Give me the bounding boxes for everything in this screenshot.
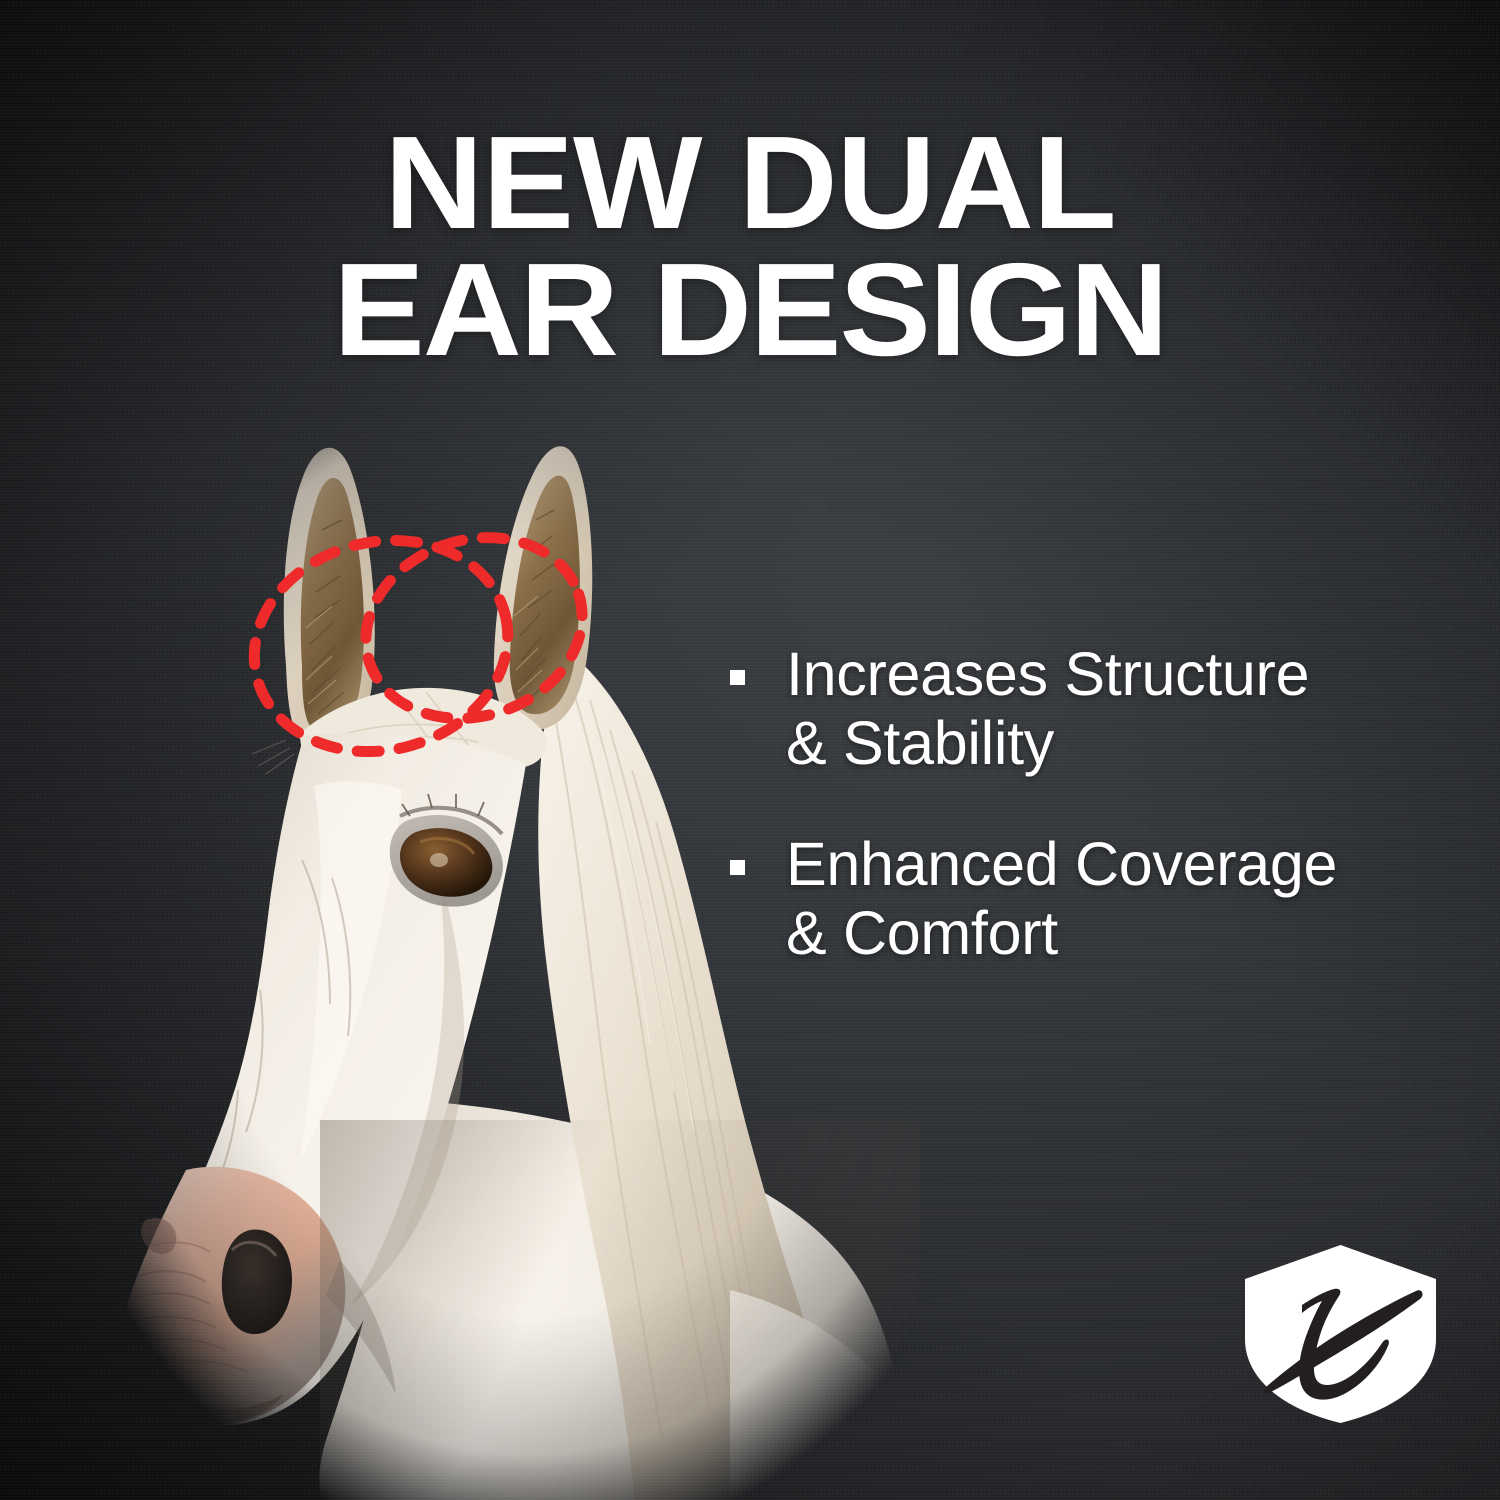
list-item-label: Enhanced Coverage & Comfort [786,830,1428,968]
square-bullet-icon [730,670,745,685]
feature-list: Increases Structure & Stability Enhanced… [728,640,1428,968]
list-item-label: Increases Structure & Stability [786,640,1428,778]
list-item-line-1: Increases Structure [786,640,1428,709]
list-item: Enhanced Coverage & Comfort [728,830,1428,968]
headline-line-1: NEW DUAL [0,120,1500,247]
brand-logo [1238,1243,1443,1425]
list-item-line-2: & Comfort [786,899,1428,968]
promo-image: NEW DUAL EAR DESIGN [0,0,1500,1500]
square-bullet-icon [730,860,745,875]
horse-right-ear [494,446,592,730]
list-item-line-1: Enhanced Coverage [786,830,1428,899]
headline: NEW DUAL EAR DESIGN [0,120,1500,373]
list-item-line-2: & Stability [786,709,1428,778]
list-item: Increases Structure & Stability [728,640,1428,778]
headline-line-2: EAR DESIGN [0,247,1500,374]
